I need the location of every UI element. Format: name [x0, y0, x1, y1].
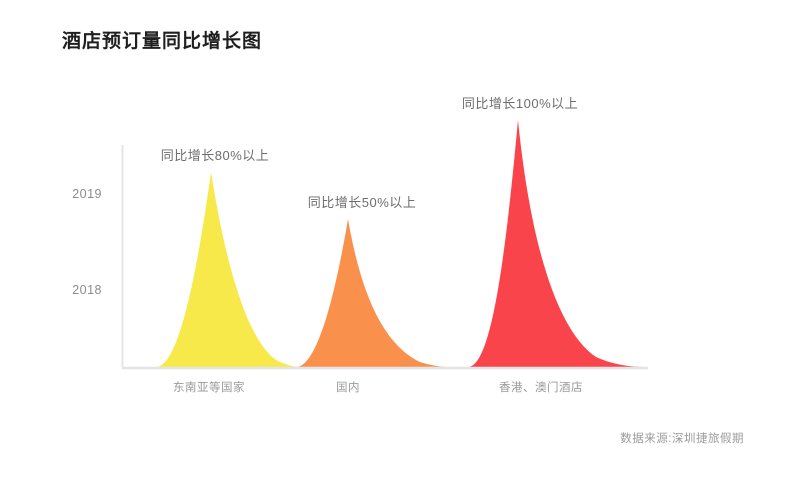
y-axis-tick-2019: 2019 — [54, 187, 102, 201]
y-axis-tick-2018: 2018 — [54, 283, 102, 297]
chart-plot-area — [0, 0, 800, 477]
area-peak-hk-macau — [438, 120, 645, 367]
x-axis-tick-domestic: 国内 — [336, 379, 360, 395]
area-peak-domestic — [275, 219, 450, 367]
area-peak-southeast-asia — [124, 172, 302, 367]
annotation-hk-macau: 同比增长100%以上 — [462, 93, 578, 112]
annotation-southeast-asia: 同比增长80%以上 — [161, 145, 270, 164]
x-axis-tick-hk-macau: 香港、澳门酒店 — [499, 379, 583, 395]
chart-container: 酒店预订量同比增长图 2019 2018 东南亚等国家 国内 香港、澳门酒店 同… — [0, 0, 800, 477]
data-source-note: 数据来源:深圳捷旅假期 — [620, 430, 744, 446]
x-axis-tick-southeast-asia: 东南亚等国家 — [173, 379, 245, 395]
annotation-domestic: 同比增长50%以上 — [308, 192, 417, 211]
